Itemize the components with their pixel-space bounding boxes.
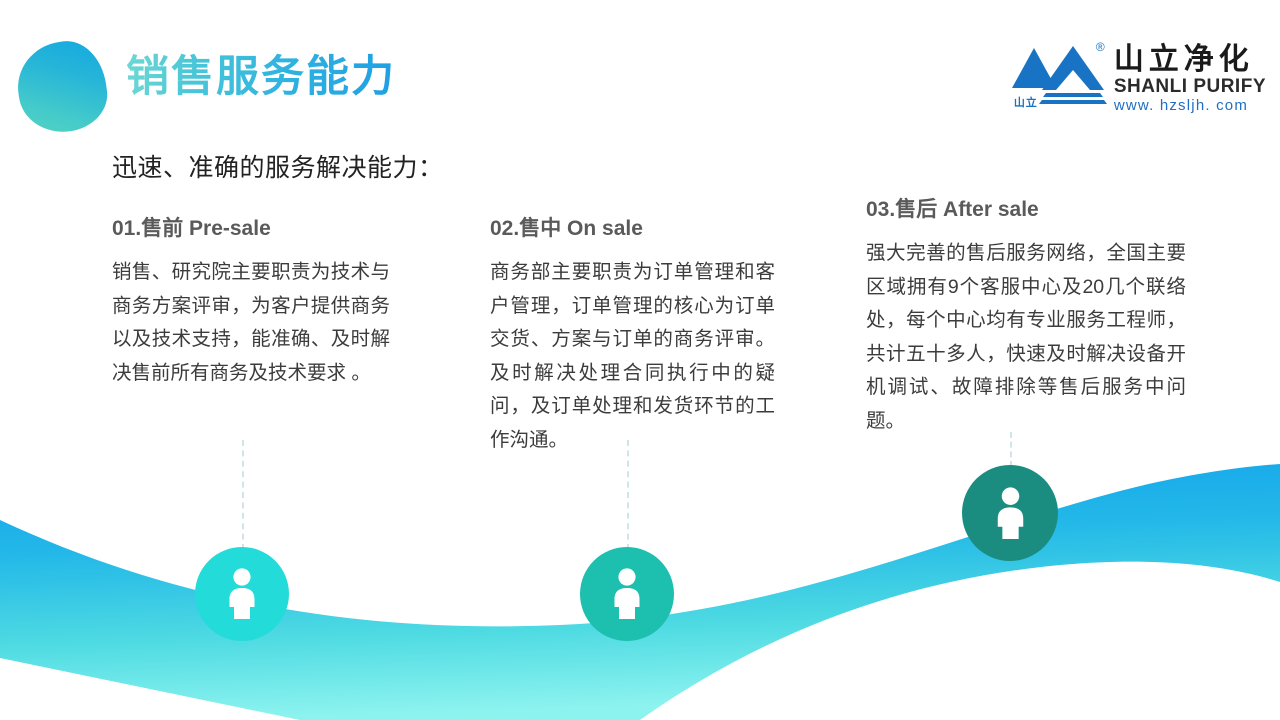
column-body-pre-sale: 销售、研究院主要职责为技术与商务方案评审，为客户提供商务以及技术支持，能准确、及… [112, 256, 390, 390]
logo-name-cn: 山立净化 [1114, 44, 1266, 76]
logo-mark-label: 山立 [1014, 94, 1038, 110]
column-pre-sale: 01.售前 Pre-sale 销售、研究院主要职责为技术与商务方案评审，为客户提… [112, 212, 390, 390]
column-body-after-sale: 强大完善的售后服务网络，全国主要区域拥有9个客服中心及20几个联络处，每个中心均… [866, 237, 1186, 438]
logo-website: www. hzsljh. com [1114, 98, 1266, 115]
page-title: 销售服务能力 [126, 52, 396, 104]
column-heading-after-sale: 03.售后 After sale [866, 193, 1186, 223]
logo-name-en: SHANLI PURIFY [1114, 77, 1266, 98]
section-subtitle: 迅速、准确的服务解决能力： [112, 148, 444, 184]
person-circle-after-sale [962, 465, 1058, 561]
logo-mountain-icon: ® 山立 [1012, 40, 1112, 112]
decorative-blob [12, 36, 112, 137]
column-heading-on-sale: 02.售中 On sale [490, 212, 775, 242]
person-icon [224, 567, 260, 621]
person-icon [992, 486, 1029, 541]
person-icon [609, 567, 645, 621]
company-logo: ® 山立 山立净化 SHANLI PURIFY www. hzsljh. com [1012, 40, 1266, 116]
logo-text-block: 山立净化 SHANLI PURIFY www. hzsljh. com [1114, 40, 1266, 115]
registered-trademark-icon: ® [1096, 40, 1105, 54]
column-heading-pre-sale: 01.售前 Pre-sale [112, 212, 390, 242]
column-after-sale: 03.售后 After sale 强大完善的售后服务网络，全国主要区域拥有9个客… [866, 193, 1186, 438]
person-circle-on-sale [580, 547, 674, 641]
slide-canvas: 销售服务能力 ® 山立 山立净化 SHANLI PURIFY www. hzsl… [0, 0, 1280, 720]
person-circle-pre-sale [195, 547, 289, 641]
